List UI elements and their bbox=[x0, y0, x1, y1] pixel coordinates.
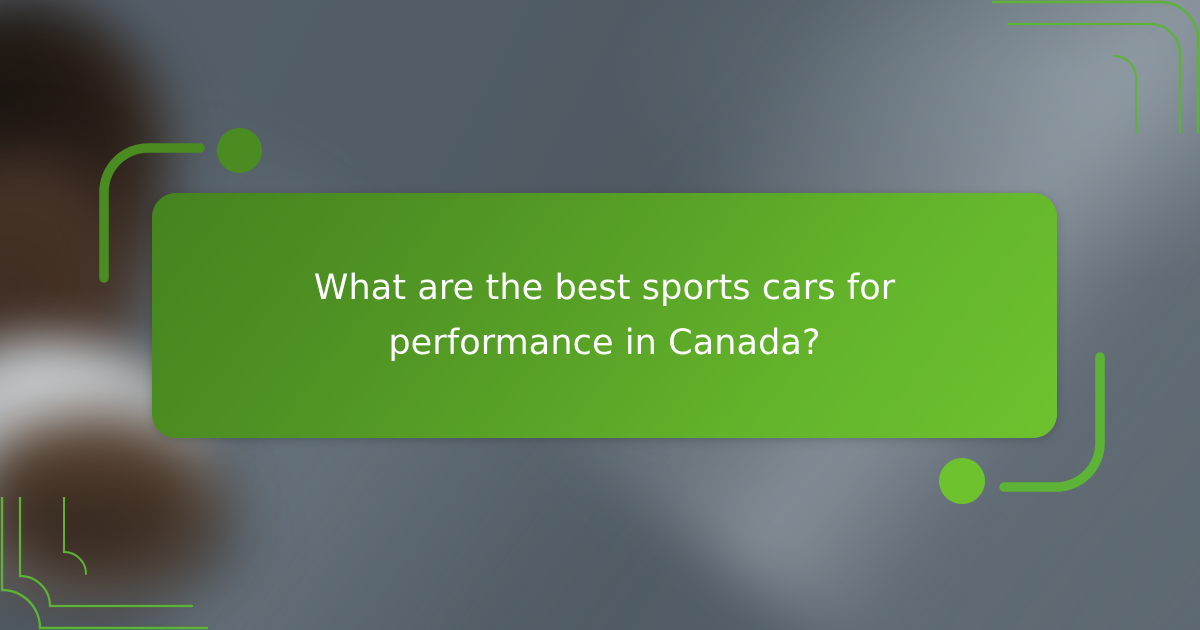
question-card-graphic: What are the best sports cars for perfor… bbox=[0, 0, 1200, 630]
accent-dot-bottom-right-icon bbox=[939, 458, 985, 504]
accent-dot-top-left-icon bbox=[217, 128, 262, 173]
question-card: What are the best sports cars for perfor… bbox=[152, 193, 1057, 438]
question-text: What are the best sports cars for perfor… bbox=[285, 261, 925, 370]
